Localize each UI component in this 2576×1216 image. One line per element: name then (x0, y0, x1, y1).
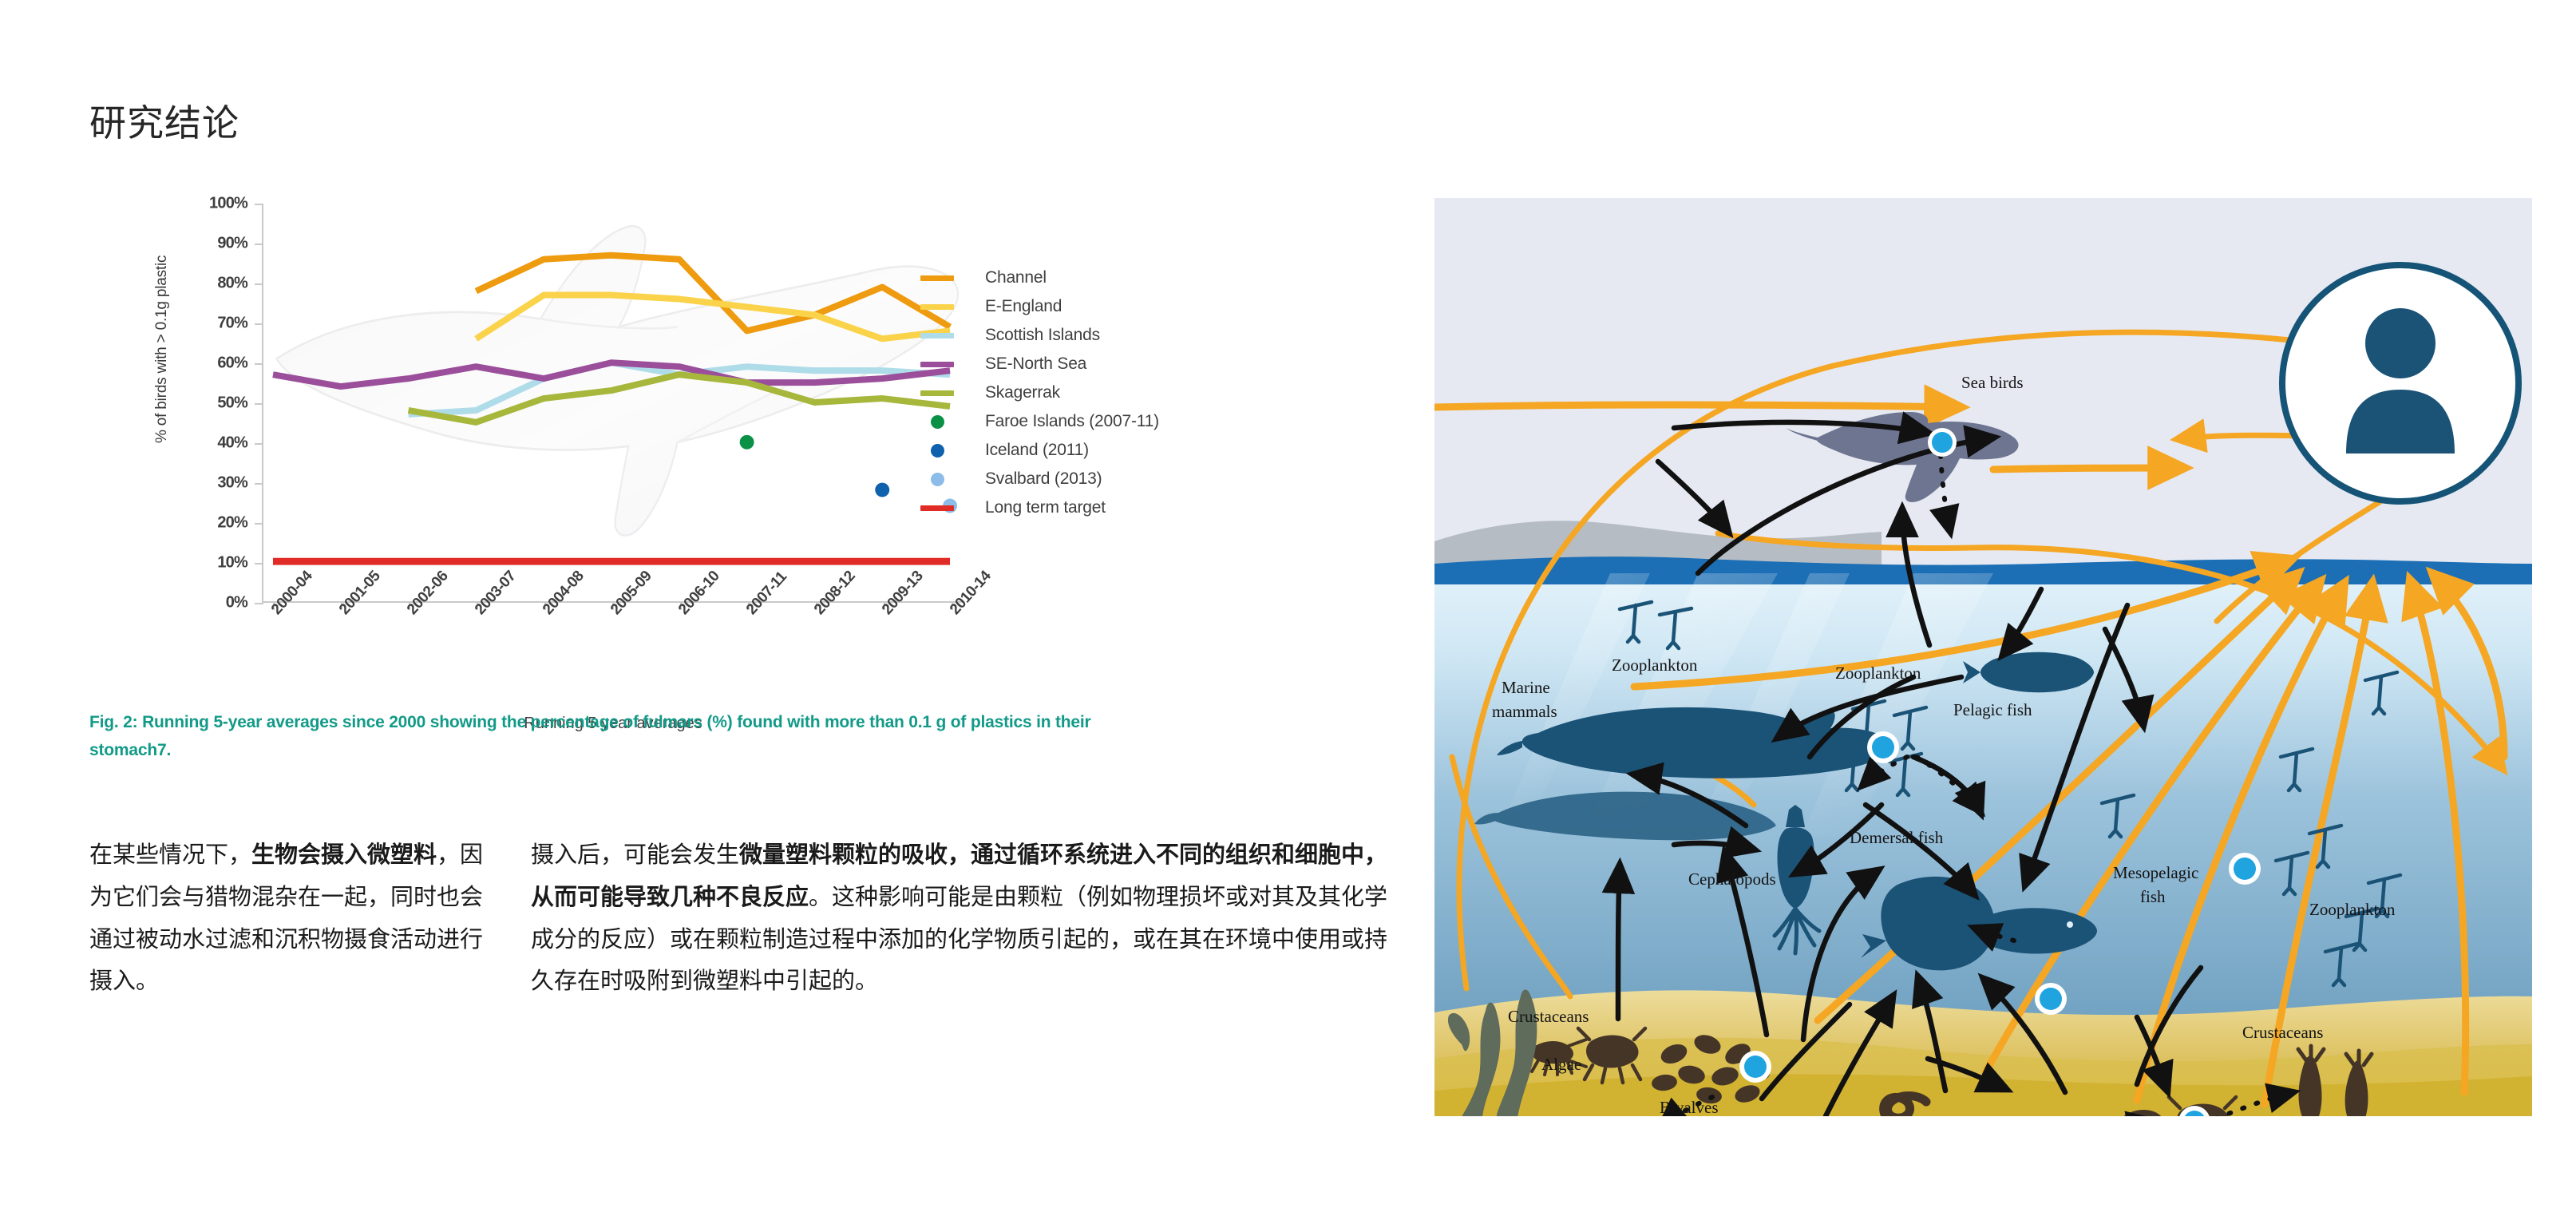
label-zooplankton-mid: Zooplankton (1835, 663, 1921, 683)
label-bivalves: Bivalves (1660, 1098, 1719, 1116)
page-title: 研究结论 (89, 94, 239, 147)
chart-y-tick: 50% (184, 394, 247, 413)
legend-swatch-icon (918, 390, 956, 396)
chart-y-tickmark (255, 563, 263, 564)
label-crustaceans-right: Crustaceans (2242, 1023, 2323, 1042)
legend-item[interactable]: Iceland (2011) (918, 436, 1253, 465)
plastic-dot (1928, 428, 1957, 457)
chart-y-tickmark (255, 204, 263, 205)
legend-swatch-icon (918, 444, 956, 457)
chart-y-tick: 90% (184, 235, 247, 253)
chart-series-se-north-sea (273, 362, 950, 386)
chart-y-tickmark (255, 323, 263, 325)
label-cephalopods: Cephalopods (1688, 869, 1776, 889)
label-zooplankton-right: Zooplankton (2309, 900, 2396, 919)
chart-y-ticks: 0%10%20%30%40%50%60%70%80%90%100% (176, 204, 247, 619)
food-web-svg: Sea birds Zooplankton Zooplankton Zoopla… (1434, 198, 2532, 1116)
human-node (2282, 265, 2519, 501)
label-crustaceans-left: Crustaceans (1508, 1007, 1589, 1026)
legend-line-icon (920, 275, 954, 281)
legend-swatch-icon (918, 333, 956, 339)
chart-y-tickmark (255, 523, 263, 525)
slide-root: 研究结论 % of birds with > 0.1g plastic 0%10… (0, 0, 2576, 1216)
plastic-dot (1739, 1051, 1771, 1083)
legend-item[interactable]: SE-North Sea (918, 350, 1253, 378)
figure-caption: Fig. 2: Running 5-year averages since 20… (89, 709, 1159, 764)
label-mesopelagic-2: fish (2140, 887, 2166, 906)
chart-y-tick: 0% (184, 594, 247, 612)
body-text-plain: 在某些情况下， (89, 842, 251, 868)
transfer-arrow-seabird-human (1993, 468, 2185, 469)
chart-plot-area (262, 204, 964, 603)
chart-y-axis-title: % of birds with > 0.1g plastic (153, 255, 171, 443)
chart-y-tick: 100% (184, 195, 247, 213)
label-mesopelagic-1: Mesopelagic (2113, 863, 2198, 882)
plastic-dot (1867, 731, 1899, 763)
legend-label: SE-North Sea (985, 355, 1086, 374)
chart-y-tickmark (255, 603, 263, 604)
legend-label: Long term target (985, 498, 1106, 517)
label-pelagic-fish: Pelagic fish (1953, 700, 2032, 719)
legend-item[interactable]: Skagerrak (918, 378, 1253, 407)
chart-y-tick: 80% (184, 275, 247, 293)
label-zooplankton-top: Zooplankton (1612, 656, 1698, 675)
chart-y-tickmark (255, 443, 263, 445)
chart-y-tickmark (255, 283, 263, 285)
label-demersal-fish: Demersal fish (1850, 828, 1944, 847)
chart-series-layer (263, 204, 964, 601)
chart-y-tick: 20% (184, 514, 247, 533)
chart-point-iceland-2011- (875, 483, 889, 497)
legend-dot-icon (931, 444, 944, 457)
legend-swatch-icon (918, 415, 956, 429)
legend-line-icon (920, 362, 954, 367)
legend-item[interactable]: Channel (918, 263, 1253, 292)
chart-y-tick: 40% (184, 434, 247, 453)
legend-item[interactable]: Scottish Islands (918, 321, 1253, 350)
body-text-plain: 摄入后，可能会发生 (531, 842, 739, 868)
legend-item[interactable]: E-England (918, 292, 1253, 321)
chart-y-tickmark (255, 244, 263, 245)
chart-series-e-england (476, 295, 950, 339)
human-head-icon (2365, 308, 2436, 378)
chart-y-tickmark (255, 403, 263, 405)
chart-y-tick: 30% (184, 474, 247, 493)
legend-label: Svalbard (2013) (985, 469, 1102, 489)
legend-swatch-icon (918, 473, 956, 486)
plastic-dot (2229, 853, 2261, 885)
legend-label: Skagerrak (985, 383, 1060, 402)
chart-legend: ChannelE-EnglandScottish IslandsSE-North… (918, 263, 1253, 522)
legend-label: Scottish Islands (985, 326, 1100, 345)
legend-dot-icon (931, 415, 944, 429)
legend-item[interactable]: Faroe Islands (2007-11) (918, 407, 1253, 436)
chart-x-tick-labels: 2000-042001-052002-062003-072004-082005-… (262, 607, 964, 719)
chart-y-tickmark (255, 483, 263, 485)
label-sea-birds: Sea birds (1961, 373, 2024, 392)
body-paragraph-right: 摄入后，可能会发生微量塑料颗粒的吸收，通过循环系统进入不同的组织和细胞中，从而可… (531, 834, 1401, 1003)
marine-food-web-diagram: Sea birds Zooplankton Zooplankton Zoopla… (1434, 198, 2532, 1116)
legend-label: E-England (985, 297, 1062, 316)
legend-swatch-icon (918, 275, 956, 281)
chart-point-faroe-islands-2007-11- (740, 435, 754, 450)
transfer-arrow-top (1434, 405, 1961, 407)
legend-label: Iceland (2011) (985, 441, 1089, 460)
legend-dot-icon (931, 473, 944, 486)
legend-swatch-icon (918, 505, 956, 511)
body-text-bold: 生物会摄入微塑料 (251, 842, 437, 868)
legend-line-icon (920, 390, 954, 396)
legend-item[interactable]: Long term target (918, 493, 1253, 522)
legend-line-icon (920, 505, 954, 511)
legend-line-icon (920, 333, 954, 339)
chart-y-tick: 60% (184, 355, 247, 373)
chart-y-tick: 70% (184, 315, 247, 333)
chart-y-tickmark (255, 363, 263, 365)
chart-y-tick: 10% (184, 554, 247, 572)
label-marine-mammals-2: mammals (1492, 702, 1557, 721)
legend-item[interactable]: Svalbard (2013) (918, 465, 1253, 493)
legend-swatch-icon (918, 304, 956, 310)
plastic-dot (2035, 983, 2067, 1015)
legend-label: Channel (985, 268, 1047, 287)
label-marine-mammals-1: Marine (1502, 678, 1550, 697)
body-paragraph-left: 在某些情况下，生物会摄入微塑料，因为它们会与猎物混杂在一起，同时也会通过被动水过… (89, 834, 493, 1003)
legend-line-icon (920, 304, 954, 310)
label-algae: Algae (1541, 1055, 1581, 1074)
legend-label: Faroe Islands (2007-11) (985, 412, 1159, 431)
legend-swatch-icon (918, 362, 956, 367)
